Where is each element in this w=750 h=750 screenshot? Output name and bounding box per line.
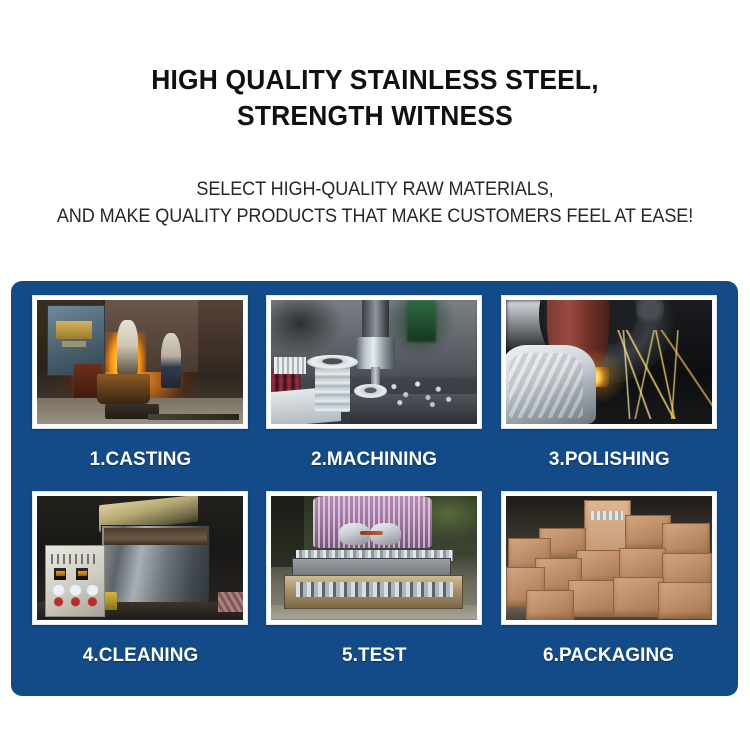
step-label-test: 5.TEST [342,644,407,667]
spindle-icon [362,300,389,342]
vent-grille [274,357,307,374]
carton-box [613,577,664,616]
carton-box [568,580,619,617]
step-label-casting: 1.CASTING [89,448,191,471]
carton-print-label [591,511,623,520]
subhead-line-1: SELECT HIGH-QUALITY RAW MATERIALS, [19,176,732,203]
drill-chuck-icon [356,337,395,369]
background-object [218,592,243,612]
step-label-packaging: 6.PACKAGING [543,644,674,667]
photo-frame-machining [266,295,482,429]
photo-frame-polishing [501,295,717,429]
photo-frame-cleaning [32,491,248,625]
digital-meter [76,568,88,580]
photo-test [271,496,477,620]
process-step-machining: 2.MACHINING [257,295,491,491]
machine-panel-green [407,300,436,342]
floor-rail [148,414,239,420]
headline-line-1: HIGH QUALITY STAINLESS STEEL, [15,62,735,98]
process-grid: 1.CASTING [11,281,738,696]
step-label-polishing: 3.POLISHING [548,448,669,471]
photo-packaging [506,496,712,620]
carton-stack [506,496,712,620]
worker-figure [117,320,138,375]
photo-casting [37,300,243,424]
photo-polishing [506,300,712,424]
photo-cleaning [37,496,243,620]
process-step-packaging: 6.PACKAGING [492,491,726,687]
furnace-wall-right [198,300,243,377]
process-step-cleaning: 4.CLEANING [23,491,257,687]
work-glove-icon [506,345,597,424]
metal-chips [385,377,459,409]
worker-figure [161,333,182,388]
photo-frame-casting [32,295,248,429]
carton-box [526,590,573,620]
control-buttons [52,585,99,609]
process-step-polishing: 3.POLISHING [492,295,726,491]
process-step-casting: 1.CASTING [23,295,257,491]
process-step-test: 5.TEST [257,491,491,687]
photo-frame-test [266,491,482,625]
page-subtitle: SELECT HIGH-QUALITY RAW MATERIALS, AND M… [19,134,732,230]
control-panel-icon [45,545,105,616]
page-title: HIGH QUALITY STAINLESS STEEL, STRENGTH W… [15,0,735,134]
stainless-part [315,362,350,412]
subhead-line-2: AND MAKE QUALITY PRODUCTS THAT MAKE CUST… [19,203,732,230]
control-panel-text [51,554,99,564]
steel-disc-part [354,384,387,398]
hand-tool-icon [360,531,383,535]
header: HIGH QUALITY STAINLESS STEEL, STRENGTH W… [0,0,750,230]
process-panel: 1.CASTING [11,281,738,696]
photo-frame-packaging [501,491,717,625]
headline-line-2: STRENGTH WITNESS [15,98,735,134]
step-label-cleaning: 4.CLEANING [82,644,198,667]
ladle-icon [97,374,151,404]
ultrasonic-tank-icon [101,525,210,604]
banner-page: HIGH QUALITY STAINLESS STEEL, STRENGTH W… [0,0,750,750]
digital-meter [54,568,66,580]
photo-machining [271,300,477,424]
step-label-machining: 2.MACHINING [311,448,437,471]
carton-box [658,582,712,619]
parts-row [296,582,453,597]
